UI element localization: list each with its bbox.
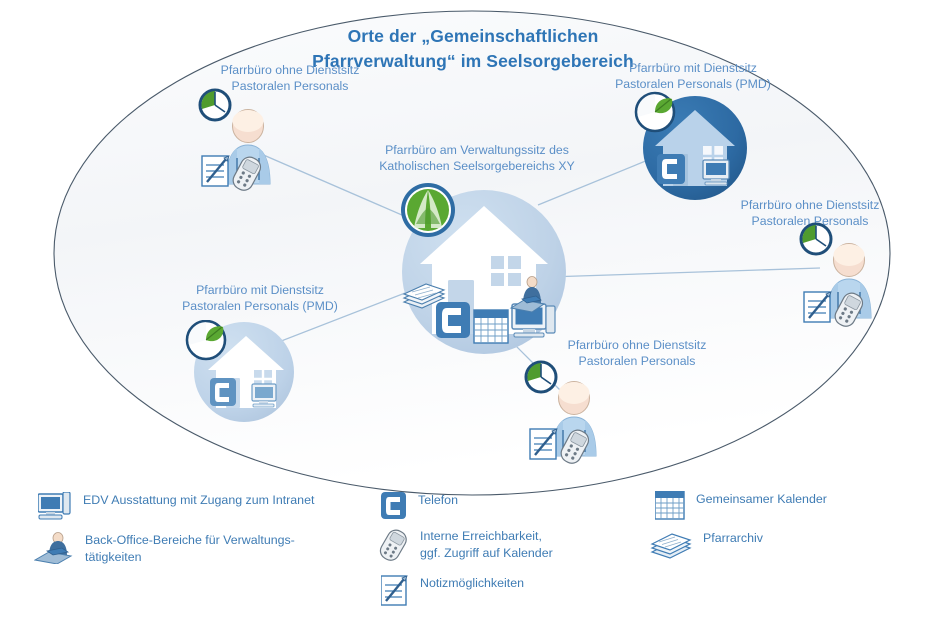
notes-icon (202, 156, 229, 186)
telephone-icon (381, 492, 407, 520)
node-top-left-person-icons (200, 152, 278, 192)
label-line-1: Pfarrbüro mit Dienstsitz (115, 282, 405, 298)
telephone-icon[interactable] (436, 302, 470, 338)
legend-label: Notizmöglichkeiten (420, 575, 524, 592)
label-line-1: Pfarrbüro ohne Dienstsitz (145, 62, 435, 78)
notes-icon (804, 292, 831, 322)
notes-icon (381, 575, 409, 607)
label-line-1: Pfarrbüro ohne Dienstsitz (527, 337, 747, 353)
mobile-phone-icon (379, 528, 409, 562)
mobile-phone-icon (230, 154, 264, 192)
node-right-person-icons (802, 288, 880, 328)
legend-item-pfarrarchiv[interactable]: Pfarrarchiv (650, 530, 910, 560)
telephone-icon[interactable] (210, 378, 236, 406)
legend-label: Interne Erreichbarkeit, ggf. Zugriff auf… (420, 528, 553, 561)
label-line-2: Katholischen Seelsorgebereichs XY (332, 158, 622, 174)
node-center-office[interactable] (392, 182, 572, 362)
notes-icon (530, 429, 557, 459)
church-badge-icon (401, 183, 455, 237)
clock-badge-icon (526, 362, 556, 392)
backoffice-icon (34, 532, 74, 564)
legend-label: Telefon (418, 492, 458, 509)
leaf-badge-icon (636, 93, 674, 131)
legend-item-kalender[interactable]: Gemeinsamer Kalender (655, 491, 915, 520)
legend-item-interne-erreichbarkeit[interactable]: Interne Erreichbarkeit, ggf. Zugriff auf… (379, 528, 619, 562)
legend-label: EDV Ausstattung mit Zugang zum Intranet (83, 492, 314, 509)
computer-icon (38, 492, 72, 522)
label-line-2: Pastoralen Personals (PMD) (115, 298, 405, 314)
label-line-1: Pfarrbüro ohne Dienstsitz (700, 197, 920, 213)
legend-label: Gemeinsamer Kalender (696, 491, 827, 508)
legend-label: Pfarrarchiv (703, 530, 763, 547)
legend-item-telefon[interactable]: Telefon (381, 492, 621, 520)
label-line-1: Pfarrbüro mit Dienstsitz (548, 60, 838, 76)
leaf-badge-icon (187, 321, 225, 359)
mobile-phone-icon (832, 290, 866, 328)
mobile-phone-icon (558, 427, 592, 465)
legend-label: Back-Office-Bereiche für Verwaltungs- tä… (85, 532, 295, 565)
clock-badge-icon (200, 90, 230, 120)
legend-item-edv[interactable]: EDV Ausstattung mit Zugang zum Intranet (38, 492, 358, 522)
legend-item-notizmoeglichkeiten[interactable]: Notizmöglichkeiten (381, 575, 621, 607)
window-icon (491, 256, 521, 286)
node-bottom-left-office-label: Pfarrbüro mit Dienstsitz Pastoralen Pers… (115, 282, 405, 314)
node-top-right-office[interactable] (627, 88, 749, 206)
calendar-icon[interactable] (474, 310, 508, 343)
title-line-1: Orte der „Gemeinschaftlichen (273, 24, 673, 49)
legend-item-backoffice[interactable]: Back-Office-Bereiche für Verwaltungs- tä… (34, 532, 354, 565)
node-center-office-label: Pfarrbüro am Verwaltungssitz des Katholi… (332, 142, 622, 174)
node-bottom-left-office[interactable] (180, 320, 302, 428)
node-bottom-person-icons (528, 425, 606, 465)
clock-badge-icon (801, 224, 831, 254)
archive-icon (650, 530, 692, 560)
label-line-1: Pfarrbüro am Verwaltungssitz des (332, 142, 622, 158)
diagram-canvas: Orte der „Gemeinschaftlichen Pfarrverwal… (0, 0, 946, 625)
telephone-icon[interactable] (657, 154, 685, 184)
calendar-icon (655, 491, 685, 520)
